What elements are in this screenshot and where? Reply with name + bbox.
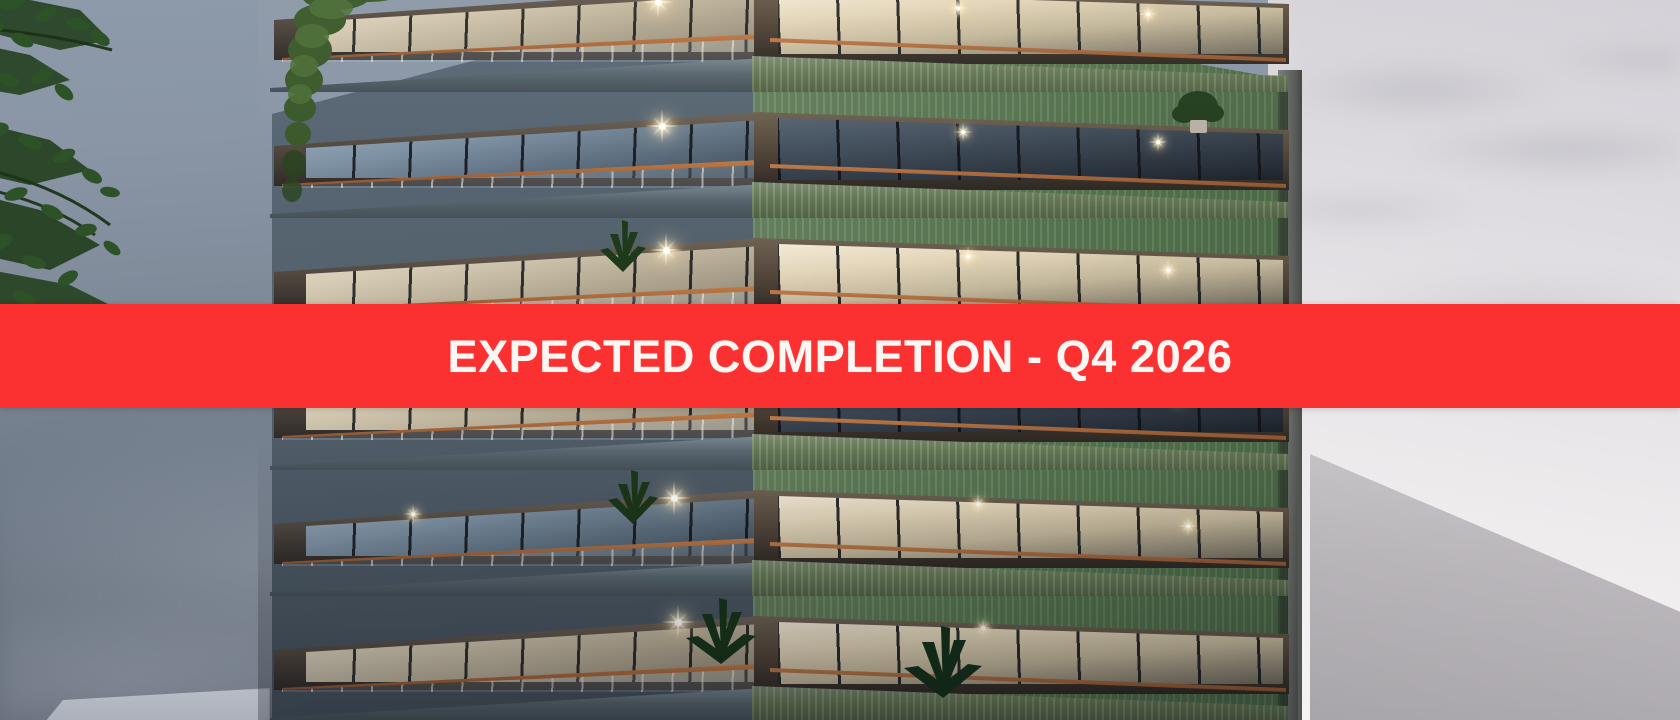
cloud-layer [1268,0,1680,520]
screenshot-canvas: EXPECTED COMPLETION - Q4 2026 [0,0,1680,720]
promo-banner: EXPECTED COMPLETION - Q4 2026 [0,304,1680,408]
banner-headline: EXPECTED COMPLETION - Q4 2026 [447,334,1232,379]
